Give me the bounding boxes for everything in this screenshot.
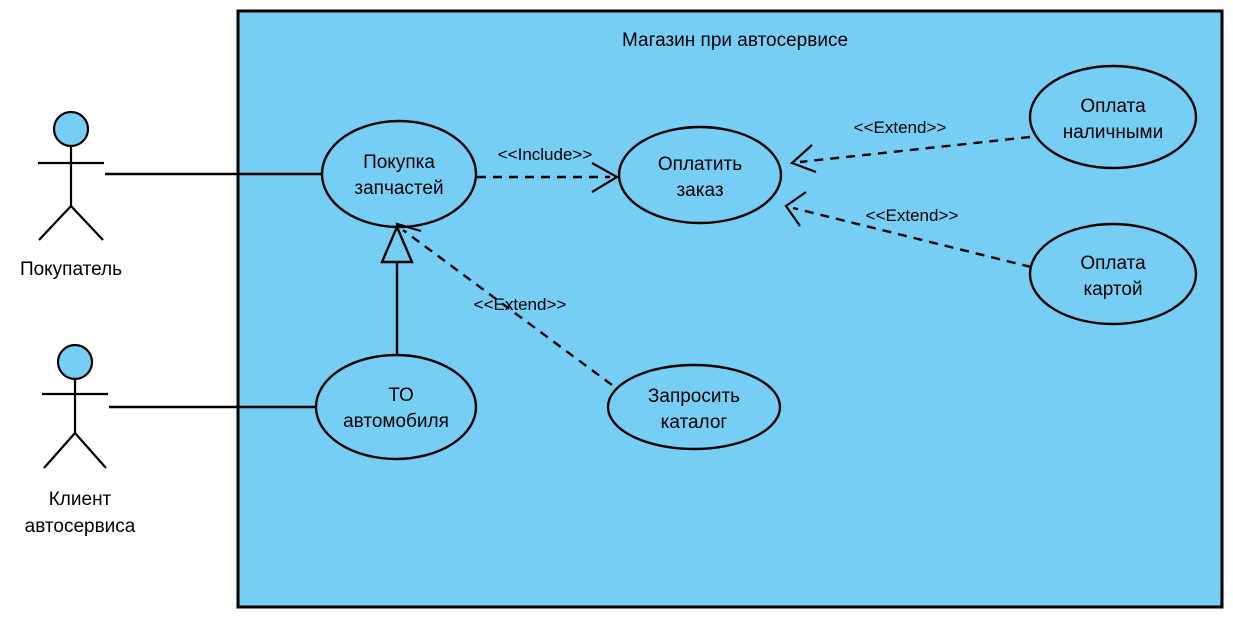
extend-stereotype-label: <<Extend>> [854, 118, 947, 137]
use-case-pay-card-line1: Оплата [1080, 253, 1146, 274]
use-case-pay-order[interactable]: Оплатить заказ [619, 127, 781, 223]
use-case-car-maintenance-line1: ТО [388, 385, 414, 406]
use-case-ellipse [1030, 66, 1196, 168]
actor-head-icon [58, 345, 92, 379]
use-case-buy-parts-line2: запчастей [354, 178, 443, 199]
use-case-pay-card[interactable]: Оплата картой [1030, 224, 1196, 324]
use-case-pay-order-line2: заказ [676, 180, 723, 201]
use-case-pay-card-line2: картой [1083, 279, 1142, 300]
use-case-buy-parts-line1: Покупка [363, 152, 435, 173]
use-case-buy-parts[interactable]: Покупка запчастей [322, 121, 476, 227]
actor-service-client[interactable]: Клиент автосервиса [25, 345, 136, 537]
actor-right-leg-line [75, 433, 106, 468]
use-case-ellipse [608, 365, 780, 449]
use-case-ellipse [322, 121, 476, 227]
use-case-request-catalog[interactable]: Запросить каталог [608, 365, 780, 449]
actor-right-leg-line [71, 206, 103, 240]
actor-left-leg-line [39, 206, 71, 240]
actor-buyer[interactable]: Покупатель [20, 112, 122, 280]
use-case-ellipse [619, 127, 781, 223]
use-case-car-maintenance-line2: автомобиля [343, 411, 449, 432]
use-case-ellipse [316, 355, 476, 459]
use-case-pay-order-line1: Оплатить [658, 154, 742, 175]
diagram-canvas: Магазин при автосервисе Покупатель Клиен… [0, 0, 1233, 621]
actor-buyer-label: Покупатель [20, 259, 122, 280]
use-case-ellipse [1030, 224, 1196, 324]
use-case-request-catalog-line1: Запросить [648, 386, 740, 407]
extend-stereotype-label: <<Extend>> [474, 295, 567, 314]
include-stereotype-label: <<Include>> [498, 145, 593, 164]
actor-left-leg-line [44, 433, 75, 468]
use-case-pay-cash-line1: Оплата [1080, 96, 1146, 117]
actor-head-icon [54, 112, 88, 146]
use-case-pay-cash-line2: наличными [1063, 122, 1163, 143]
system-title: Магазин при автосервисе [622, 30, 848, 51]
extend-stereotype-label: <<Extend>> [866, 206, 959, 225]
use-case-diagram: Магазин при автосервисе Покупатель Клиен… [0, 0, 1233, 621]
use-case-request-catalog-line2: каталог [661, 412, 728, 433]
use-case-car-maintenance[interactable]: ТО автомобиля [316, 355, 476, 459]
use-case-pay-cash[interactable]: Оплата наличными [1030, 66, 1196, 168]
actor-service-client-label-line1: Клиент [49, 489, 112, 510]
actor-service-client-label-line2: автосервиса [25, 516, 136, 537]
